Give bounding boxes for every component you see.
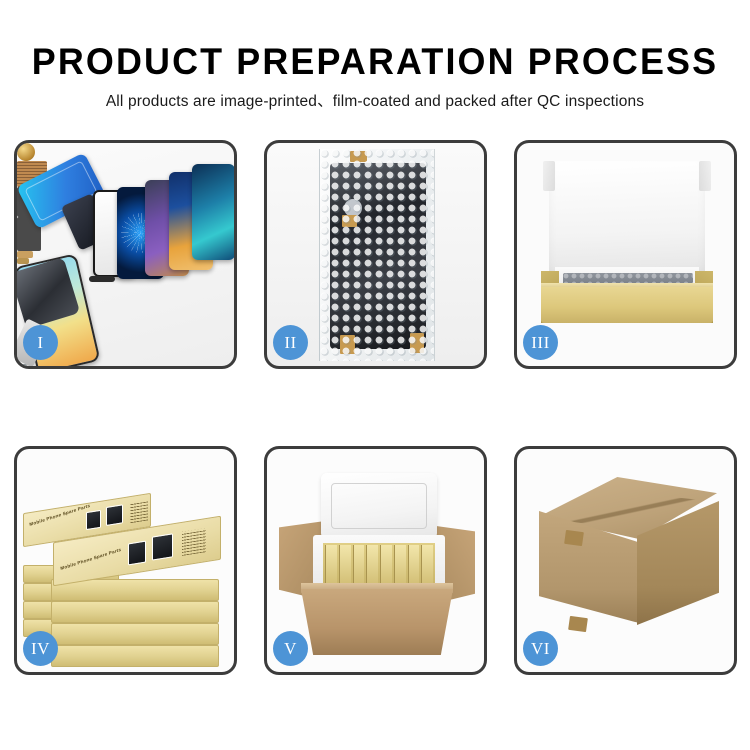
process-steps-grid: I II: [14, 140, 736, 675]
white-foam-lid: [549, 161, 705, 279]
yellow-box-front: [541, 287, 713, 323]
small-gold-part-2: [17, 258, 29, 264]
inner-box: [408, 545, 420, 583]
yellow-boxes-inside: [323, 543, 435, 585]
bubble-texture: [320, 149, 434, 361]
step-panel-1: I: [14, 140, 237, 369]
box-window-front-1: [128, 541, 146, 566]
inner-box: [394, 545, 406, 583]
small-gold-part-1: [17, 251, 33, 258]
step-panel-2: II: [264, 140, 487, 369]
step-badge-4: IV: [23, 631, 58, 666]
retail-box-stack: Mobile Phone Spare Parts Mobile Phone Sp…: [23, 473, 229, 659]
stacked-box-front-2: [51, 601, 219, 623]
inner-box: [353, 545, 365, 583]
box-spec-lines-rear: [130, 500, 148, 523]
step-panel-5: V: [264, 446, 487, 675]
inner-box: [380, 545, 392, 583]
box-spec-lines-front: [182, 528, 206, 556]
stacked-box-front-4: [51, 645, 219, 667]
inner-box: [325, 545, 337, 583]
box-window-rear-2: [106, 504, 123, 526]
step-badge-2: II: [273, 325, 308, 360]
phone-screen-teal: [192, 164, 234, 260]
box-label-rear: Mobile Phone Spare Parts: [29, 503, 91, 527]
earpiece-mesh: [89, 276, 115, 282]
step-badge-3: III: [523, 325, 558, 360]
step-panel-3: III: [514, 140, 737, 369]
step-panel-4: Mobile Phone Spare Parts Mobile Phone Sp…: [14, 446, 237, 675]
inner-box: [339, 545, 351, 583]
speaker-part: [17, 143, 35, 161]
stacked-box-front-3: [51, 623, 219, 645]
carton-tape-lower: [568, 616, 588, 632]
product-preparation-infographic: PRODUCT PREPARATION PROCESS All products…: [0, 0, 750, 750]
step-badge-6: VI: [523, 631, 558, 666]
box-window-front-2: [152, 533, 173, 560]
inner-box: [366, 545, 378, 583]
carton-tape-upper: [564, 530, 584, 546]
page-subtitle: All products are image-printed、film-coat…: [0, 92, 750, 112]
bubble-wrap-bag: [319, 149, 435, 361]
step-badge-5: V: [273, 631, 308, 666]
inner-box: [421, 545, 433, 583]
step-badge-1: I: [23, 325, 58, 360]
page-title: PRODUCT PREPARATION PROCESS: [11, 40, 739, 84]
foam-box-lid: [321, 473, 437, 539]
carton-body: [301, 589, 453, 655]
box-label-front: Mobile Phone Spare Parts: [60, 547, 122, 571]
header: PRODUCT PREPARATION PROCESS All products…: [0, 40, 750, 112]
step-panel-6: VI: [514, 446, 737, 675]
box-window-rear-1: [86, 510, 101, 530]
